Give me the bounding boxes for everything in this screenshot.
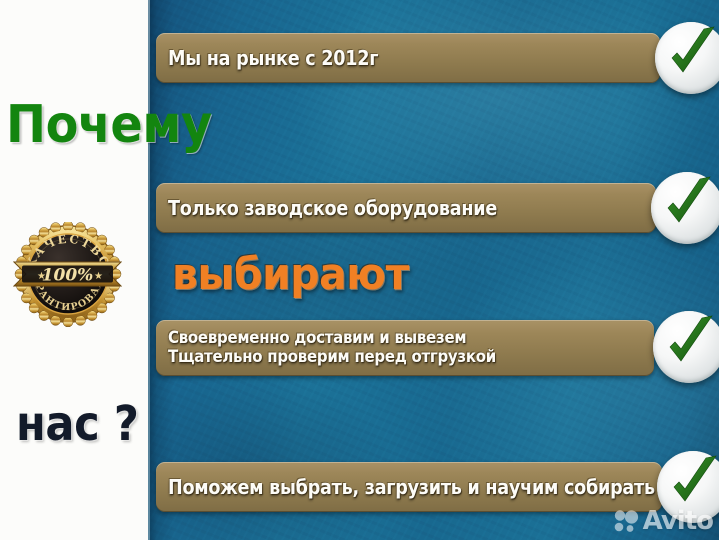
feature-bar-delivery-and-inspection[interactable]: Своевременно доставим и вывезем Тщательн… [156,320,654,376]
feature-bar-help-choose-load-assemble[interactable]: Поможем выбрать, загрузить и научим соби… [156,462,662,512]
promo-banner: Почему выбирают нас ? [0,0,719,540]
headline-word-nas: нас ? [16,400,138,448]
feature-text: Только заводское оборудование [168,198,497,218]
feature-bar-factory-equipment[interactable]: Только заводское оборудование [156,183,656,233]
badge-ribbon: ★ 100% ★ [14,262,121,286]
feature-text-block: Своевременно доставим и вывезем Тщательн… [168,329,541,367]
check-mark-icon [653,311,719,383]
feature-text: Мы на рынке с 2012г [168,48,378,68]
badge-star-right: ★ [94,271,103,282]
feature-text: Поможем выбрать, загрузить и научим соби… [168,477,655,497]
feature-text-line-2: Тщательно проверим перед отгрузкой [168,348,496,367]
panel-divider [148,0,150,540]
badge-center-value: 100% [42,266,94,286]
check-mark-icon [657,451,719,523]
check-mark-icon [655,22,719,94]
headline-word-vybirayut: выбирают [172,253,409,297]
feature-text-line-1: Своевременно доставим и вывезем [168,329,496,348]
feature-bar-years-on-market[interactable]: Мы на рынке с 2012г [156,33,660,83]
quality-guarantee-badge: КАЧЕСТВО ГАРАНТИРОВАНО ★ 100% ★ [13,222,122,327]
check-mark-icon [651,172,719,244]
headline-word-pochemu: Почему [6,99,212,151]
